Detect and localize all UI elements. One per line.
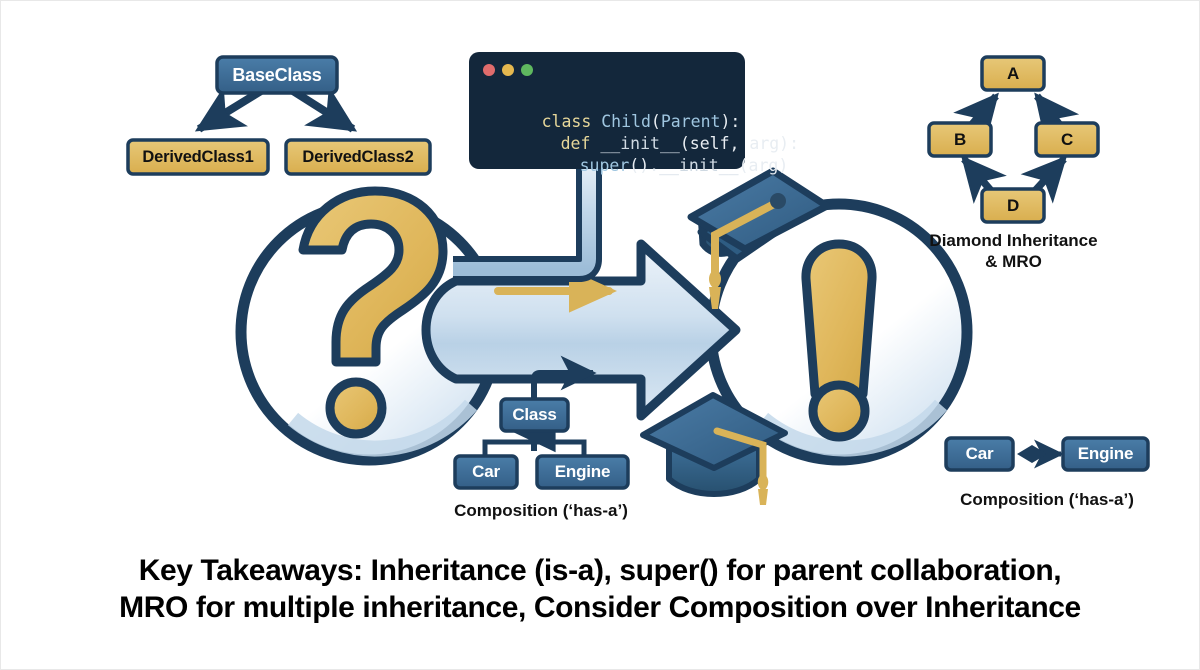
code-token-init-2: __init__ (659, 156, 738, 175)
code-token-super: super (580, 156, 630, 175)
code-token-args-2: (arg) (739, 156, 789, 175)
traffic-light-red (483, 64, 495, 76)
takeaway-line-1: Key Takeaways: Inheritance (is-a), super… (1, 553, 1199, 590)
diamond-node-d[interactable] (982, 189, 1044, 222)
node-baseclass[interactable] (217, 57, 337, 93)
diamond-caption-line2: & MRO (901, 252, 1126, 272)
diamond-node-a[interactable] (982, 57, 1044, 90)
composition-node-car[interactable] (455, 456, 517, 488)
diagram-canvas: BaseClass DerivedClass1 DerivedClass2 cl… (0, 0, 1200, 670)
composition-uml-edge (1017, 445, 1061, 463)
diamond-node-b[interactable] (929, 123, 991, 156)
node-derivedclass1[interactable] (128, 140, 268, 174)
composition-node-engine[interactable] (537, 456, 628, 488)
uml-node-car[interactable] (946, 438, 1013, 470)
node-derivedclass2[interactable] (286, 140, 430, 174)
diamond-caption-line1: Diamond Inheritance (901, 231, 1126, 251)
diamond-node-c[interactable] (1036, 123, 1098, 156)
uml-node-engine[interactable] (1063, 438, 1148, 470)
composition-node-class[interactable] (501, 399, 568, 431)
exclamation-mark-icon (806, 244, 872, 437)
composition-tree-caption: Composition (‘has-a’) (421, 501, 661, 521)
code-token-dot: (). (629, 156, 659, 175)
code-line-3: super().__init__(arg) (520, 137, 788, 194)
takeaway-line-2: MRO for multiple inheritance, Consider C… (1, 590, 1199, 627)
traffic-light-green (521, 64, 533, 76)
traffic-light-yellow (502, 64, 514, 76)
composition-uml-caption: Composition (‘has-a’) (927, 490, 1167, 510)
inheritance-tree-edges (199, 91, 353, 129)
